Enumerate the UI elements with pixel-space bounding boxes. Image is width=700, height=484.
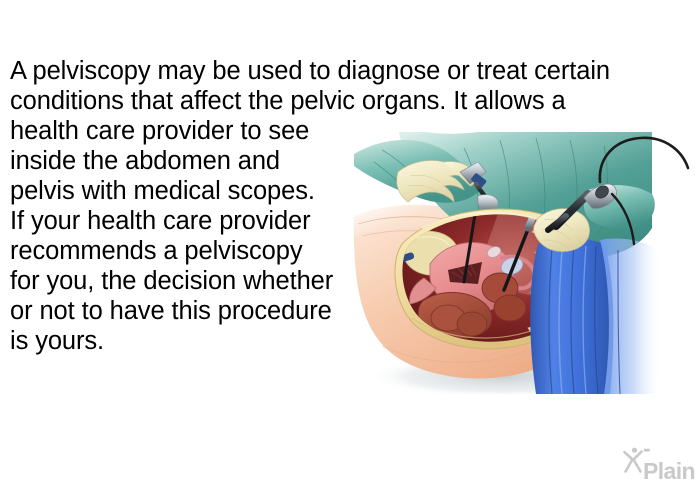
text-line: A pelviscopy may be used to diagnose or … [10, 56, 660, 86]
text-line: conditions that affect the pelvic organs… [10, 86, 660, 116]
pelviscopy-illustration [352, 132, 700, 394]
text-line: inside the abdomen and [10, 146, 358, 176]
x-plain-figure-icon [622, 446, 644, 474]
surgical-drape [530, 238, 661, 394]
text-line: health care provider to see [10, 116, 358, 146]
logo-wordmark: -Plain [643, 437, 698, 483]
text-line: If your health care provider [10, 206, 358, 236]
text-line: recommends a pelviscopy [10, 236, 358, 266]
text-line: or not to have this procedure [10, 296, 358, 326]
page-root: A pelviscopy may be used to diagnose or … [0, 0, 700, 480]
text-line: for you, the decision whether [10, 266, 358, 296]
text-line: pelvis with medical scopes. [10, 176, 358, 206]
text-line: is yours. [10, 326, 358, 356]
x-plain-logo: -Plain [622, 444, 698, 476]
